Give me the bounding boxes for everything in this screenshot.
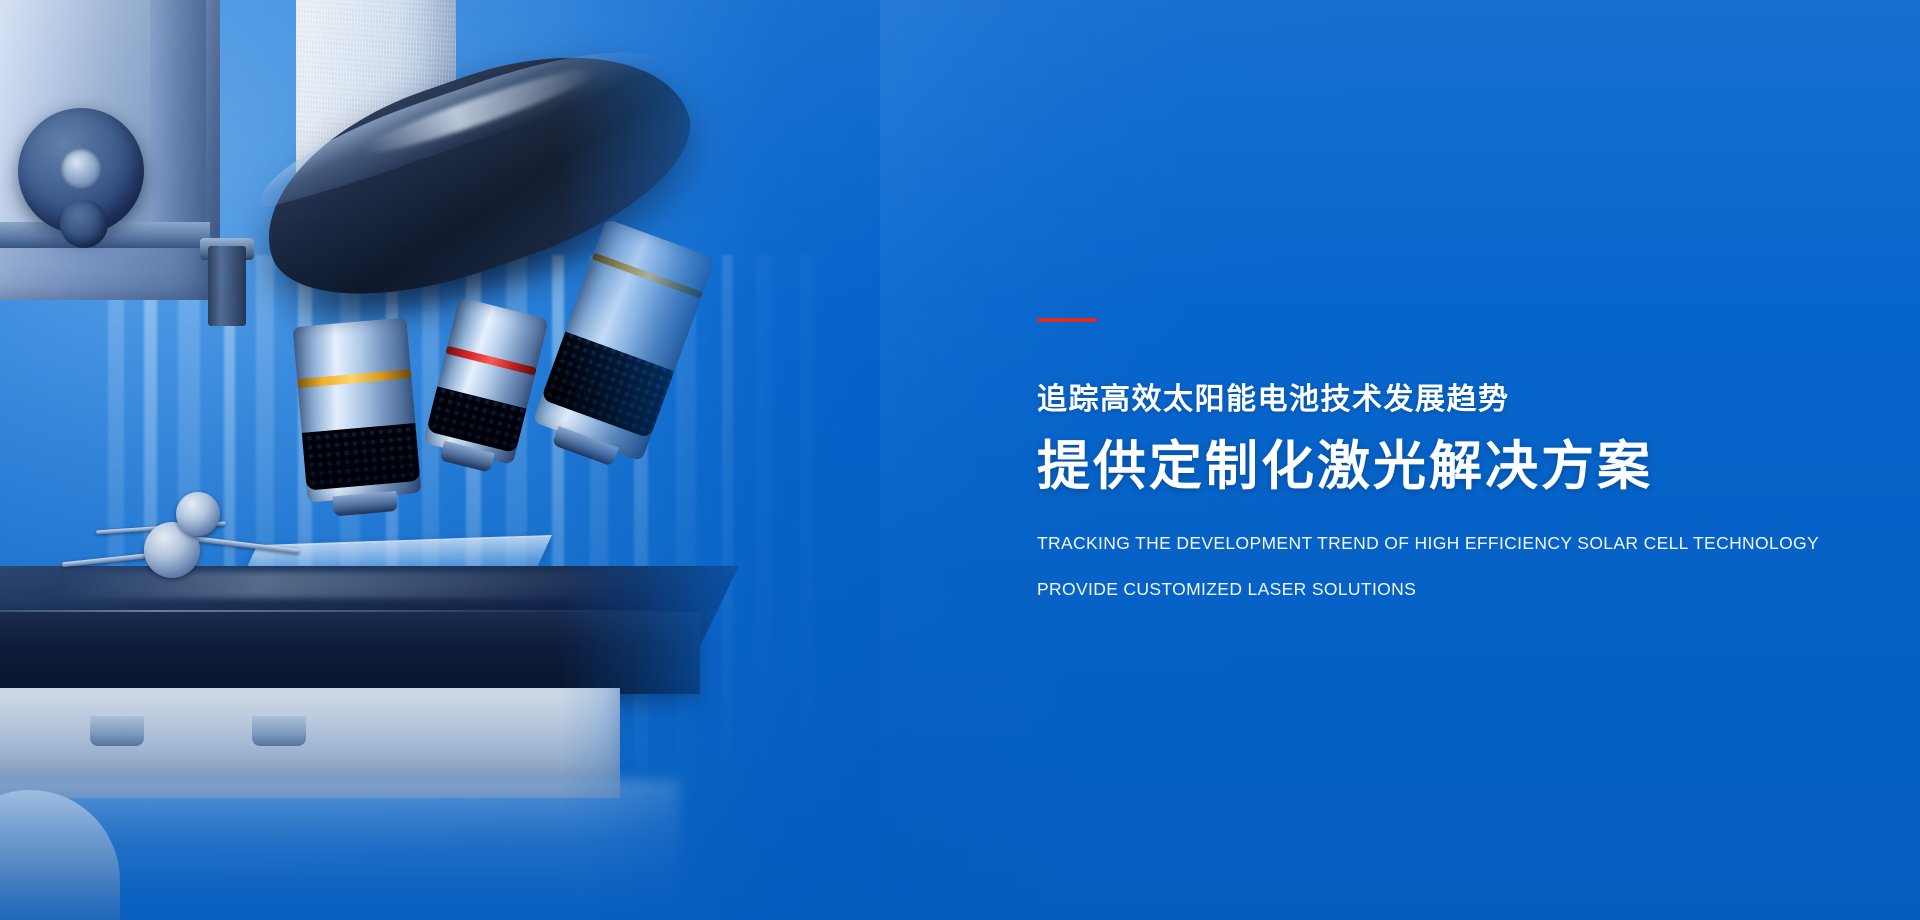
red-accent-rule xyxy=(1037,318,1097,322)
hero-subheadline: 追踪高效太阳能电池技术发展趋势 xyxy=(1037,382,1897,418)
hero-headline: 提供定制化激光解决方案 xyxy=(1037,436,1897,499)
hero-english-line-2: PROVIDE CUSTOMIZED LASER SOLUTIONS xyxy=(1037,581,1897,599)
hero-banner: 追踪高效太阳能电池技术发展趋势 提供定制化激光解决方案 TRACKING THE… xyxy=(0,0,1920,920)
hero-english-line-1: TRACKING THE DEVELOPMENT TREND OF HIGH E… xyxy=(1037,535,1897,553)
hero-text-block: 追踪高效太阳能电池技术发展趋势 提供定制化激光解决方案 TRACKING THE… xyxy=(1037,318,1897,599)
hero-english-block: TRACKING THE DEVELOPMENT TREND OF HIGH E… xyxy=(1037,535,1897,599)
